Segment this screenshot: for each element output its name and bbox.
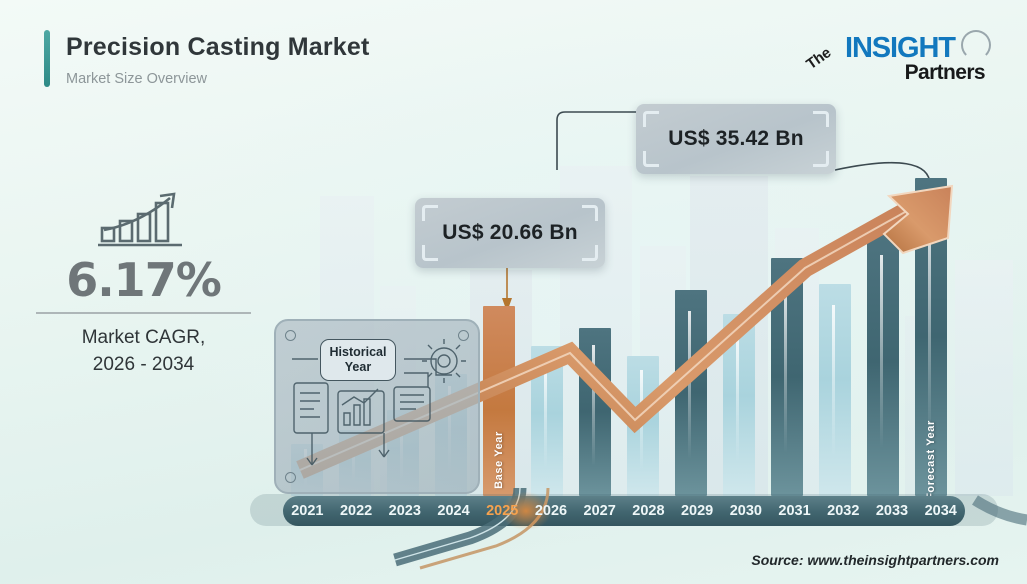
cagr-label: Market CAGR, 2026 - 2034 bbox=[36, 324, 251, 378]
callout-forecast-value[interactable]: US$ 35.42 Bn bbox=[636, 104, 836, 174]
page-title: Precision Casting Market bbox=[66, 30, 370, 64]
cagr-label-line2: 2026 - 2034 bbox=[36, 351, 251, 378]
bar-2032[interactable] bbox=[819, 284, 851, 496]
year-axis: 2021 2022 2023 2024 2025 2026 2027 2028 … bbox=[283, 496, 965, 526]
axis-year-2024[interactable]: 2024 bbox=[429, 503, 478, 519]
axis-year-2033[interactable]: 2033 bbox=[868, 503, 917, 519]
cagr-panel: 6.17% Market CAGR, 2026 - 2034 bbox=[36, 190, 251, 378]
axis-year-2026[interactable]: 2026 bbox=[527, 503, 576, 519]
bar-2025-base-year[interactable]: Base Year bbox=[483, 306, 515, 496]
axis-year-2022[interactable]: 2022 bbox=[332, 503, 381, 519]
axis-year-2032[interactable]: 2032 bbox=[819, 503, 868, 519]
bar-2030[interactable] bbox=[723, 314, 755, 496]
historical-year-panel: Historical Year bbox=[274, 319, 480, 494]
callout-forecast-value-text: US$ 35.42 Bn bbox=[668, 127, 803, 151]
axis-year-2034[interactable]: 2034 bbox=[916, 503, 965, 519]
infographic-canvas: Precision Casting Market Market Size Ove… bbox=[0, 0, 1027, 584]
source-text: Source: www.theinsightpartners.com bbox=[751, 552, 999, 568]
axis-year-2028[interactable]: 2028 bbox=[624, 503, 673, 519]
cagr-value: 6.17% bbox=[36, 254, 251, 306]
skyline-building bbox=[955, 260, 1013, 496]
axis-year-2029[interactable]: 2029 bbox=[673, 503, 722, 519]
axis-year-2030[interactable]: 2030 bbox=[721, 503, 770, 519]
cagr-label-line1: Market CAGR, bbox=[36, 324, 251, 351]
logo-partners-text: Partners bbox=[905, 61, 985, 85]
axis-year-2027[interactable]: 2027 bbox=[575, 503, 624, 519]
axis-year-2025[interactable]: 2025 bbox=[478, 503, 527, 519]
logo-the-text: The bbox=[803, 44, 834, 73]
forecast-year-label: Forecast Year bbox=[925, 420, 937, 500]
logo-circle-icon bbox=[961, 30, 991, 60]
bar-2028[interactable] bbox=[627, 356, 659, 496]
base-year-label: Base Year bbox=[493, 431, 505, 489]
brand-logo[interactable]: The INSIGHT Partners bbox=[803, 28, 993, 90]
header: Precision Casting Market Market Size Ove… bbox=[44, 30, 370, 87]
axis-year-2021[interactable]: 2021 bbox=[283, 503, 332, 519]
bar-2027[interactable] bbox=[579, 328, 611, 496]
callout-base-value-text: US$ 20.66 Bn bbox=[442, 221, 577, 245]
bar-2031[interactable] bbox=[771, 258, 803, 496]
axis-year-2023[interactable]: 2023 bbox=[380, 503, 429, 519]
title-accent-bar bbox=[44, 30, 50, 87]
panel-schematic bbox=[276, 321, 482, 496]
bar-2033[interactable] bbox=[867, 228, 899, 496]
bar-2034-forecast-year[interactable]: Forecast Year bbox=[915, 178, 947, 496]
divider bbox=[36, 312, 251, 314]
callout-base-value[interactable]: US$ 20.66 Bn bbox=[415, 198, 605, 268]
page-subtitle: Market Size Overview bbox=[66, 71, 370, 87]
bar-2029[interactable] bbox=[675, 290, 707, 496]
bar-2026[interactable] bbox=[531, 346, 563, 496]
bar-chart-growth-icon bbox=[36, 190, 251, 248]
axis-year-2031[interactable]: 2031 bbox=[770, 503, 819, 519]
